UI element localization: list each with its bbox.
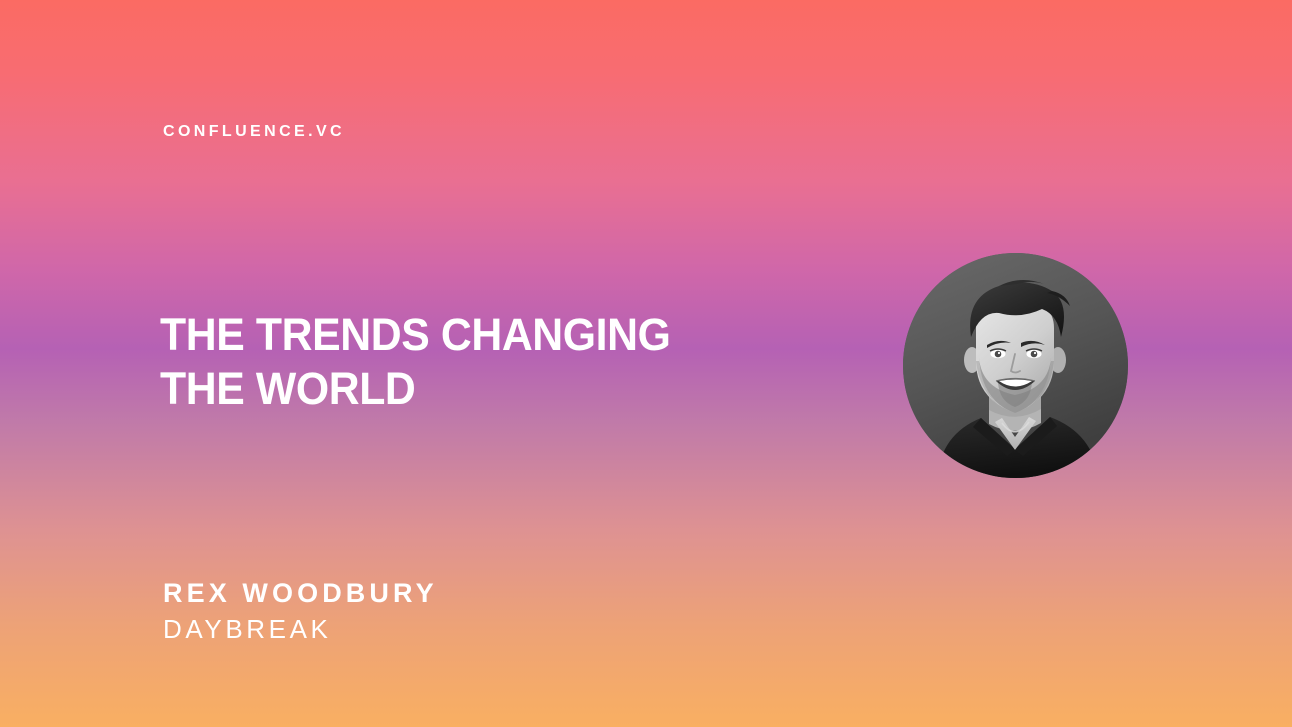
portrait-illustration (903, 253, 1128, 478)
speaker-name: REX WOODBURY (163, 580, 438, 607)
presentation-slide: CONFLUENCE.VC THE TRENDS CHANGING THE WO… (0, 0, 1292, 727)
speaker-organization: DAYBREAK (163, 616, 438, 642)
speaker-block: REX WOODBURY DAYBREAK (163, 580, 438, 642)
page-title: THE TRENDS CHANGING THE WORLD (160, 312, 671, 420)
speaker-portrait-avatar (903, 253, 1128, 478)
brand-logo: CONFLUENCE.VC (163, 124, 345, 140)
headline-line-2: THE WORLD (160, 366, 671, 411)
headline-line-1: THE TRENDS CHANGING (160, 312, 671, 357)
